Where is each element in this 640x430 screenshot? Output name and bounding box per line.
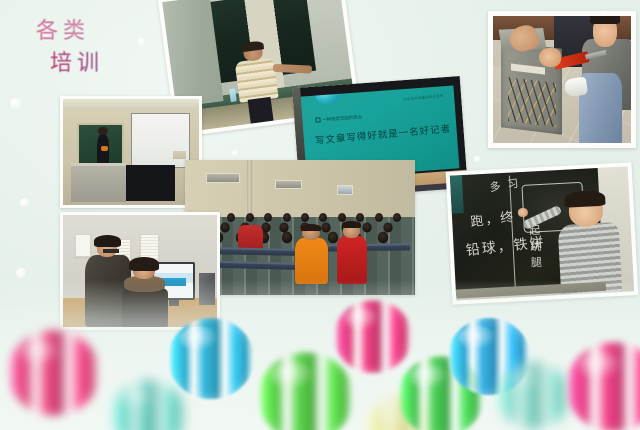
slide-header-text: 汽车运学院基础知识素质 bbox=[403, 92, 444, 101]
audience-head bbox=[301, 213, 309, 222]
audience-head bbox=[283, 213, 291, 222]
audience-head bbox=[393, 213, 401, 222]
lantern-highlight bbox=[459, 326, 495, 351]
lantern-highlight bbox=[410, 364, 448, 390]
slide-bullet-text: 一种极度忠国的观点: bbox=[322, 114, 363, 122]
lantern-body bbox=[258, 352, 354, 430]
photo-electrical-toolbox-practice bbox=[488, 11, 636, 148]
audience-head bbox=[338, 213, 346, 222]
lantern-teal-faint bbox=[498, 362, 570, 430]
slide-headline-text: 写文章写得好就是一名好记者 bbox=[314, 121, 451, 147]
bokeh-dot bbox=[20, 198, 29, 207]
lantern-pink-far bbox=[566, 342, 640, 430]
photo-blackboard-writing: 多 习 跑，终 铅球，铁饼 起 跳 腿 bbox=[446, 162, 639, 305]
lantern-highlight bbox=[508, 369, 540, 391]
lantern-body bbox=[498, 362, 570, 430]
lantern-body bbox=[566, 342, 640, 430]
page-title: 各类 培训 bbox=[36, 16, 146, 80]
audience-head bbox=[362, 222, 371, 232]
page-title-line-1: 各类 bbox=[36, 16, 146, 48]
lantern-body bbox=[448, 318, 530, 395]
bokeh-dot bbox=[10, 98, 21, 109]
lantern-pink-left bbox=[8, 330, 100, 416]
lantern-yellow-low bbox=[368, 396, 438, 430]
bokeh-dot bbox=[474, 156, 480, 162]
chalk-text-line-4: 起 跳 腿 bbox=[525, 224, 543, 269]
lantern-body bbox=[8, 330, 100, 416]
lantern-pink-mid bbox=[334, 300, 412, 373]
page-title-line-2: 培训 bbox=[50, 48, 146, 80]
audience-head bbox=[220, 222, 229, 232]
lantern-highlight bbox=[378, 403, 409, 424]
bokeh-dot bbox=[16, 268, 26, 278]
audience-head bbox=[227, 213, 235, 222]
lantern-cyan-mid bbox=[168, 318, 254, 399]
lantern-teal-small bbox=[112, 380, 186, 430]
lantern-blue-center bbox=[448, 318, 530, 395]
lantern-green-low bbox=[398, 356, 484, 430]
audience-head bbox=[356, 213, 364, 222]
photo-computer-lab-training bbox=[60, 212, 220, 330]
audience-head bbox=[246, 213, 254, 222]
lantern-highlight bbox=[122, 387, 155, 409]
lantern-body bbox=[368, 396, 438, 430]
lantern-highlight bbox=[271, 361, 313, 390]
photo-collage-canvas: 汽车运学院基础知识素质 一种极度忠国的观点: 写文章写得好就是一名好记者 bbox=[0, 0, 640, 430]
slide-bullet-line: 一种极度忠国的观点: bbox=[315, 114, 363, 123]
lantern-body bbox=[112, 380, 186, 430]
lantern-highlight bbox=[345, 307, 379, 330]
lantern-body bbox=[398, 356, 484, 430]
lantern-highlight bbox=[579, 351, 621, 380]
bokeh-dot bbox=[44, 24, 53, 33]
audience-head bbox=[264, 213, 272, 222]
audience-head bbox=[383, 222, 392, 232]
lantern-highlight bbox=[21, 339, 61, 367]
bokeh-dot bbox=[232, 150, 238, 156]
photo-classroom-projection-screen bbox=[60, 96, 202, 208]
lantern-body bbox=[334, 300, 412, 373]
audience-head bbox=[375, 213, 383, 222]
audience-head bbox=[319, 213, 327, 222]
lantern-green-right bbox=[258, 352, 354, 430]
lantern-body bbox=[168, 318, 254, 399]
slide-bullet-marker bbox=[315, 117, 321, 123]
bokeh-dot bbox=[138, 38, 145, 45]
audience-head bbox=[321, 222, 330, 232]
